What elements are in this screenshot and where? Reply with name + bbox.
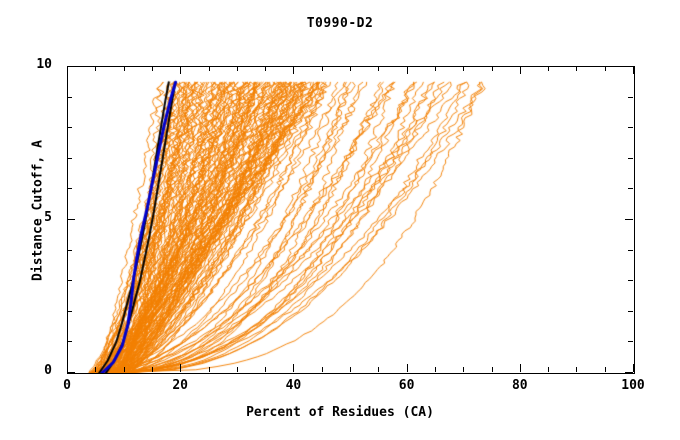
y-tick-right	[628, 127, 633, 128]
y-tick-label: 10	[18, 57, 52, 72]
x-tick-top	[633, 66, 634, 74]
y-tick-right	[628, 97, 633, 98]
x-tick-top	[322, 66, 323, 71]
x-tick-bottom	[322, 367, 323, 372]
y-tick-left	[67, 219, 75, 220]
x-tick-bottom	[265, 367, 266, 372]
x-tick-bottom	[605, 367, 606, 372]
y-tick-left	[67, 97, 72, 98]
y-tick-right	[628, 311, 633, 312]
x-tick-top	[293, 66, 294, 74]
x-tick-top	[265, 66, 266, 71]
x-tick-label: 100	[603, 378, 663, 393]
x-tick-bottom	[435, 367, 436, 372]
y-tick-left	[67, 158, 72, 159]
y-tick-right	[628, 341, 633, 342]
x-tick-top	[407, 66, 408, 74]
chart-root: T0990-D2 020406080100 0510 Percent of Re…	[0, 0, 680, 440]
y-tick-left	[67, 372, 75, 373]
y-tick-left	[67, 341, 72, 342]
x-tick-bottom	[378, 367, 379, 372]
x-tick-label: 60	[377, 378, 437, 393]
x-tick-bottom	[95, 367, 96, 372]
x-tick-bottom	[293, 364, 294, 372]
x-tick-bottom	[350, 367, 351, 372]
x-tick-bottom	[520, 364, 521, 372]
x-tick-label: 0	[37, 378, 97, 393]
x-tick-label: 40	[263, 378, 323, 393]
x-tick-top	[576, 66, 577, 71]
x-tick-top	[435, 66, 436, 71]
y-tick-right	[628, 250, 633, 251]
x-tick-top	[180, 66, 181, 74]
x-tick-top	[152, 66, 153, 71]
x-tick-bottom	[209, 367, 210, 372]
x-tick-bottom	[180, 364, 181, 372]
x-tick-bottom	[124, 367, 125, 372]
x-tick-top	[209, 66, 210, 71]
y-tick-right	[625, 219, 633, 220]
x-tick-top	[350, 66, 351, 71]
y-tick-right	[628, 188, 633, 189]
x-axis-label: Percent of Residues (CA)	[0, 405, 680, 420]
x-tick-bottom	[67, 364, 68, 372]
y-tick-left	[67, 66, 75, 67]
x-tick-bottom	[237, 367, 238, 372]
y-axis-label: Distance Cutoff, A	[31, 81, 46, 341]
plot-title: T0990-D2	[0, 16, 680, 31]
x-tick-top	[492, 66, 493, 71]
x-tick-bottom	[633, 364, 634, 372]
y-tick-label: 0	[18, 363, 52, 378]
plot-area	[67, 66, 635, 374]
x-tick-top	[548, 66, 549, 71]
x-tick-top	[95, 66, 96, 71]
x-tick-bottom	[463, 367, 464, 372]
x-tick-top	[124, 66, 125, 71]
y-tick-left	[67, 127, 72, 128]
y-tick-left	[67, 280, 72, 281]
y-tick-right	[625, 66, 633, 67]
curves-canvas	[68, 67, 634, 373]
y-tick-right	[628, 158, 633, 159]
x-tick-label: 20	[150, 378, 210, 393]
y-tick-left	[67, 250, 72, 251]
x-tick-top	[605, 66, 606, 71]
y-tick-left	[67, 188, 72, 189]
y-tick-right	[628, 280, 633, 281]
x-tick-top	[237, 66, 238, 71]
x-tick-top	[67, 66, 68, 74]
x-tick-bottom	[407, 364, 408, 372]
x-tick-bottom	[492, 367, 493, 372]
y-tick-right	[625, 372, 633, 373]
y-tick-left	[67, 311, 72, 312]
x-tick-bottom	[576, 367, 577, 372]
x-tick-label: 80	[490, 378, 550, 393]
x-tick-bottom	[152, 367, 153, 372]
x-tick-top	[463, 66, 464, 71]
x-tick-top	[378, 66, 379, 71]
x-tick-top	[520, 66, 521, 74]
x-tick-bottom	[548, 367, 549, 372]
